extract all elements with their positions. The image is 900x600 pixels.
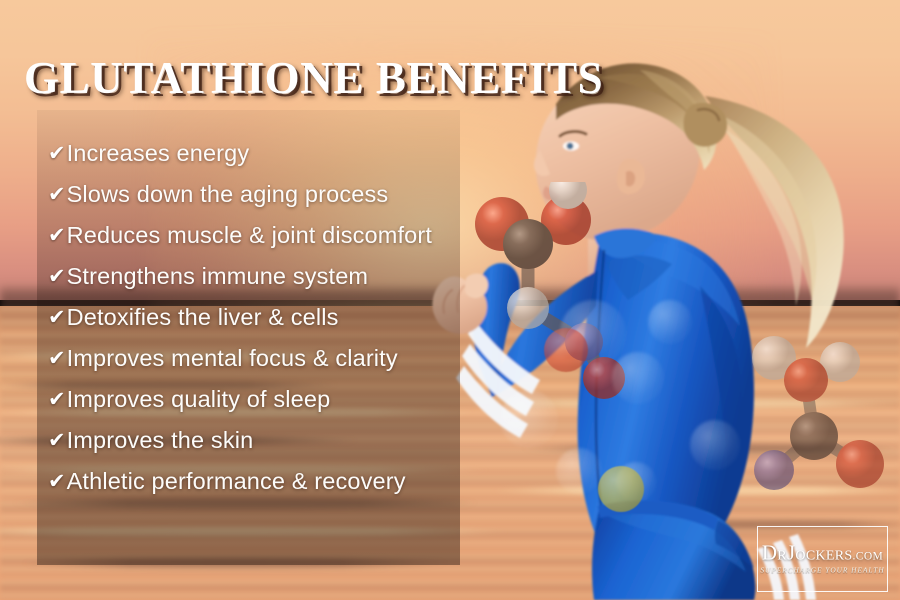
atoms [475, 182, 625, 399]
list-item: ✔ Strengthens immune system [48, 256, 468, 297]
logo-dr-r: R [777, 548, 787, 563]
checkmark-icon: ✔ [48, 225, 66, 246]
logo-domain: .COM [852, 550, 883, 562]
nitrogen-atom [754, 450, 794, 490]
eye [567, 143, 574, 150]
sulfur-atom-accent [598, 466, 644, 512]
checkmark-icon: ✔ [48, 430, 66, 451]
carbon-atom [790, 412, 838, 460]
bokeh-sphere [556, 448, 602, 494]
hydrogen-atom [507, 287, 549, 329]
list-item: ✔ Slows down the aging process [48, 174, 468, 215]
bokeh-sphere [612, 352, 664, 404]
bokeh-sphere [690, 420, 740, 470]
checkmark-icon: ✔ [48, 307, 66, 328]
checkmark-icon: ✔ [48, 389, 66, 410]
benefit-label: Reduces muscle & joint discomfort [67, 222, 432, 249]
logo-dr-d: D [762, 540, 777, 564]
logo-jockers-rest: OCKERS [795, 548, 852, 563]
checkmark-icon: ✔ [48, 184, 66, 205]
page-title: GLUTATHIONE BENEFITS [24, 52, 603, 104]
list-item: ✔ Increases energy [48, 133, 468, 174]
list-item: ✔ Athletic performance & recovery [48, 461, 468, 502]
benefit-label: Detoxifies the liver & cells [67, 304, 339, 331]
list-item: ✔ Detoxifies the liver & cells [48, 297, 468, 338]
oxygen-atom [836, 440, 884, 488]
checkmark-icon: ✔ [48, 143, 66, 164]
benefit-label: Increases energy [67, 140, 250, 167]
carbon-atom [503, 219, 553, 269]
oxygen-atom [784, 358, 828, 402]
logo-wordmark: DRJOCKERS.COM [758, 542, 887, 563]
benefits-list: ✔ Increases energy ✔ Slows down the agin… [48, 133, 468, 502]
checkmark-icon: ✔ [48, 471, 66, 492]
checkmark-icon: ✔ [48, 348, 66, 369]
list-item: ✔ Improves the skin [48, 420, 468, 461]
list-item: ✔ Reduces muscle & joint discomfort [48, 215, 468, 256]
benefit-label: Slows down the aging process [67, 181, 389, 208]
oxygen-atom-accent [544, 328, 588, 372]
infographic-poster: GLUTATHIONE BENEFITS ✔ Increases energy … [0, 0, 900, 600]
list-item: ✔ Improves mental focus & clarity [48, 338, 468, 379]
logo-tagline: SUPERCHARGE YOUR HEALTH [758, 565, 887, 574]
benefit-label: Improves quality of sleep [67, 386, 331, 413]
list-item: ✔ Improves quality of sleep [48, 379, 468, 420]
glutathione-molecule-secondary [744, 318, 900, 518]
bokeh-sphere [648, 300, 692, 344]
bokeh-sphere [500, 390, 558, 448]
benefit-label: Athletic performance & recovery [67, 468, 406, 495]
benefit-label: Improves mental focus & clarity [67, 345, 398, 372]
checkmark-icon: ✔ [48, 266, 66, 287]
brand-logo[interactable]: DRJOCKERS.COM SUPERCHARGE YOUR HEALTH [757, 526, 888, 592]
benefit-label: Improves the skin [67, 427, 254, 454]
benefit-label: Strengthens immune system [67, 263, 369, 290]
